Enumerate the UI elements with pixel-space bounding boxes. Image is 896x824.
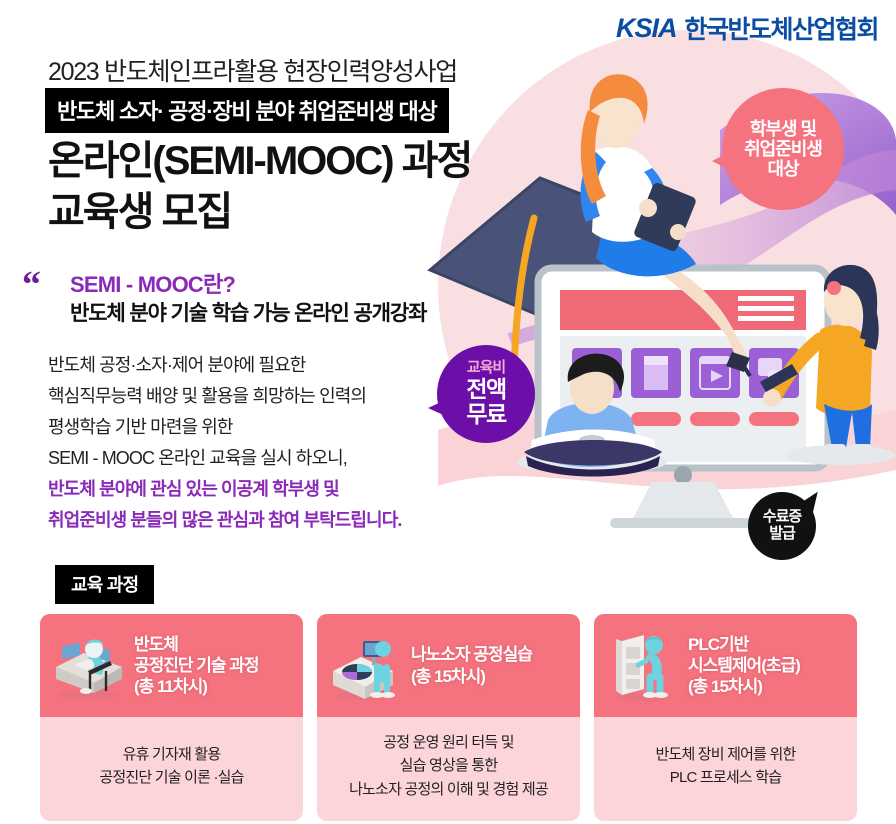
course-desc-line: 나노소자 공정의 이해 및 경험 제공 <box>349 781 548 798</box>
badge-line: 대상 <box>767 159 798 179</box>
course-card-description: 유휴 기자재 활용 공정진단 기술 이론 ·실습 <box>99 743 243 790</box>
intro-line-highlight: 반도체 분야에 관심 있는 이공계 학부생 및 <box>48 474 401 505</box>
page-title: 온라인(SEMI-MOOC) 과정 교육생 모집 <box>48 136 471 238</box>
logo-mark: KSIA <box>616 13 677 44</box>
course-desc-line: 공정 운영 원리 터득 및 <box>383 734 513 751</box>
badge-line: 학부생 및 <box>750 119 816 139</box>
course-card-description: 공정 운영 원리 터득 및 실습 영상을 통한 나노소자 공정의 이해 및 경험… <box>349 731 548 801</box>
status-badge-certificate: 수료증 발급 <box>748 492 816 560</box>
poster-root: KSIA 한국반도체산업협회 2023 반도체인프라활용 현장인력양성사업 반도… <box>0 0 896 824</box>
course-card-list: 반도체 공정진단 기술 과정 (총 11차시) 유휴 기자재 활용 공정진단 기… <box>40 614 858 821</box>
online-learning-illustration <box>420 0 896 600</box>
intro-line: 핵심직무능력 배양 및 활용을 희망하는 인력의 <box>48 381 401 412</box>
badge-line: 수료증 <box>763 509 801 526</box>
course-card-body: 유휴 기자재 활용 공정진단 기술 이론 ·실습 <box>40 717 303 821</box>
intro-line: 반도체 공정·소자·제어 분야에 필요한 <box>48 350 401 381</box>
headline-line-1: 온라인(SEMI-MOOC) 과정 <box>48 136 471 187</box>
course-title-line: 나노소자 공정실습 <box>411 645 532 664</box>
course-desc-line: PLC 프로세스 학습 <box>670 769 782 786</box>
course-title-line: 공정진단 기술 과정 <box>134 656 259 675</box>
course-desc-line: 반도체 장비 제어를 위한 <box>655 746 795 763</box>
intro-line: SEMI - MOOC 온라인 교육을 실시 하오니, <box>48 443 401 474</box>
course-card-description: 반도체 장비 제어를 위한 PLC 프로세스 학습 <box>655 743 795 790</box>
status-badge-target-audience: 학부생 및 취업준비생 대상 <box>722 88 844 210</box>
audience-tag: 반도체 소자· 공정·장비 분야 취업준비생 대상 <box>45 88 449 133</box>
badge-line: 전액 <box>466 377 505 403</box>
course-title-line: (총 15차시) <box>688 677 762 696</box>
course-card-title: PLC기반 시스템제어(초급) (총 15차시) <box>688 634 800 698</box>
intro-line-highlight: 취업준비생 분들의 많은 관심과 참여 부탁드립니다. <box>48 505 401 536</box>
course-title-line: (총 15차시) <box>411 667 485 686</box>
badge-tail <box>428 397 452 419</box>
program-subtitle: 2023 반도체인프라활용 현장인력양성사업 <box>48 52 457 88</box>
status-badge-free-tuition: 교육비 전액 무료 <box>437 345 535 443</box>
badge-line: 교육비 <box>467 360 505 377</box>
course-card-title: 반도체 공정진단 기술 과정 (총 11차시) <box>134 634 259 698</box>
course-title-line: 시스템제어(초급) <box>688 656 800 675</box>
course-title-line: PLC기반 <box>688 635 748 654</box>
course-card-title: 나노소자 공정실습 (총 15차시) <box>411 644 532 687</box>
course-title-line: (총 11차시) <box>134 677 207 696</box>
ksia-logo: KSIA 한국반도체산업협회 <box>616 10 878 46</box>
course-card[interactable]: 나노소자 공정실습 (총 15차시) 공정 운영 원리 터득 및 실습 영상을 … <box>317 614 580 821</box>
course-card-body: 반도체 장비 제어를 위한 PLC 프로세스 학습 <box>594 717 857 821</box>
course-desc-line: 유휴 기자재 활용 <box>123 746 221 763</box>
badge-line: 취업준비생 <box>744 139 822 159</box>
course-card[interactable]: 반도체 공정진단 기술 과정 (총 11차시) 유휴 기자재 활용 공정진단 기… <box>40 614 303 821</box>
intro-paragraph: 반도체 공정·소자·제어 분야에 필요한 핵심직무능력 배양 및 활용을 희망하… <box>48 350 401 536</box>
section-heading-courses: 교육 과정 <box>55 565 154 604</box>
control-cabinet-icon <box>604 627 682 705</box>
quote-mark-icon: “ <box>22 266 38 304</box>
intro-line: 평생학습 기반 마련을 위한 <box>48 412 401 443</box>
course-card-header: 나노소자 공정실습 (총 15차시) <box>317 614 580 717</box>
course-desc-line: 실습 영상을 통한 <box>400 757 498 774</box>
process-equipment-icon <box>327 627 405 705</box>
badge-line: 발급 <box>769 526 795 543</box>
badge-tail <box>712 148 738 174</box>
course-title-line: 반도체 <box>134 635 178 654</box>
badge-line: 무료 <box>466 402 505 428</box>
course-desc-line: 공정진단 기술 이론 ·실습 <box>99 769 243 786</box>
course-card[interactable]: PLC기반 시스템제어(초급) (총 15차시) 반도체 장비 제어를 위한 P… <box>594 614 857 821</box>
logo-name: 한국반도체산업협회 <box>684 10 878 46</box>
definition-question: SEMI - MOOC란? <box>70 267 235 299</box>
course-card-body: 공정 운영 원리 터득 및 실습 영상을 통한 나노소자 공정의 이해 및 경험… <box>317 717 580 821</box>
course-card-header: PLC기반 시스템제어(초급) (총 15차시) <box>594 614 857 717</box>
course-card-header: 반도체 공정진단 기술 과정 (총 11차시) <box>40 614 303 717</box>
desk-computer-icon <box>50 627 128 705</box>
definition-answer: 반도체 분야 기술 학습 가능 온라인 공개강좌 <box>70 297 426 327</box>
headline-line-2: 교육생 모집 <box>48 187 471 238</box>
